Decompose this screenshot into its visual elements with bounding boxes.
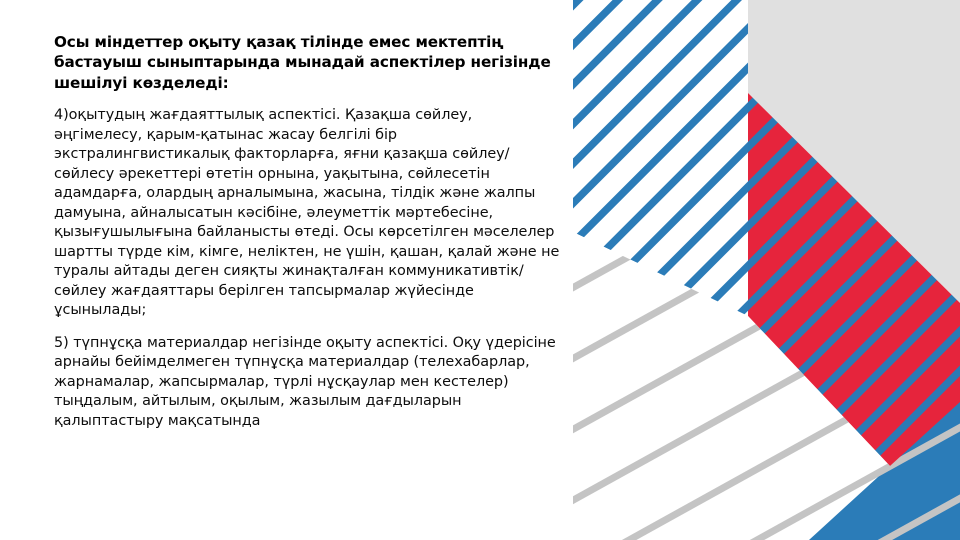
body-paragraph-4: 4)оқытудың жағдаяттылық аспектісі. Қазақ… bbox=[54, 106, 562, 321]
text-content-column: Осы міндеттер оқыту қазақ тілінде емес м… bbox=[54, 32, 562, 540]
stripes-svg bbox=[573, 0, 960, 540]
decorative-stripes-graphic bbox=[573, 0, 960, 540]
slide-heading: Осы міндеттер оқыту қазақ тілінде емес м… bbox=[54, 32, 562, 93]
slide-canvas: Осы міндеттер оқыту қазақ тілінде емес м… bbox=[0, 0, 960, 540]
body-paragraph-5: 5) түпнұсқа материалдар негізінде оқыту … bbox=[54, 334, 562, 432]
